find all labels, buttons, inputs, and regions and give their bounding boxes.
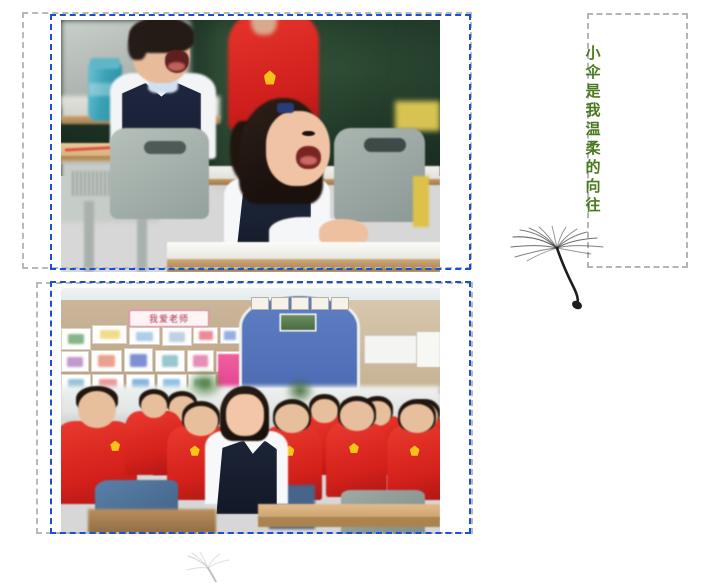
- right-wall-board-2: [417, 332, 440, 366]
- drawing: [220, 327, 241, 344]
- caption-char: 的: [585, 160, 600, 175]
- drawing: [155, 350, 185, 373]
- caption-char: 小: [585, 46, 600, 61]
- page-canvas: 我爱老师: [0, 0, 708, 567]
- vertical-caption: 小 伞 是 我 温 柔 的 向 往: [580, 46, 606, 213]
- arch-center-photo: [281, 315, 315, 330]
- person-head: [141, 394, 168, 419]
- wall-banner: 我爱老师: [129, 310, 209, 327]
- arch-title-card: [331, 297, 349, 311]
- person-head: [400, 404, 434, 434]
- person-head: [311, 399, 338, 424]
- dandelion-seed-icon: [186, 552, 230, 582]
- caption-char: 是: [585, 84, 600, 99]
- caption-char: 向: [585, 179, 600, 194]
- drawing: [129, 327, 160, 346]
- water-bottle-cap: [90, 58, 120, 69]
- dandelion-seed-icon: [505, 226, 609, 314]
- person-head: [275, 404, 309, 434]
- desk-leg-left: [84, 201, 94, 272]
- drawing: [61, 351, 89, 372]
- person-head: [340, 401, 374, 431]
- boy-tongue: [168, 62, 185, 71]
- foreground-girl-vest: [216, 441, 277, 515]
- chair-left-handle: [144, 141, 186, 154]
- drawing: [162, 327, 192, 346]
- drawing: [92, 325, 127, 344]
- chair-right-handle: [364, 138, 406, 152]
- caption-char: 伞: [585, 65, 600, 80]
- person-head: [184, 406, 218, 436]
- dandelion-seed-large: [505, 226, 609, 314]
- arch-title-card: [251, 297, 269, 311]
- foreground-girl-face: [226, 394, 264, 436]
- caption-char: 柔: [585, 141, 600, 156]
- drawing: [91, 350, 122, 373]
- photo-classroom-children-singing[interactable]: [61, 20, 440, 272]
- photo-1-content: [61, 20, 440, 272]
- right-wall-board: [364, 335, 417, 365]
- person-body: [326, 423, 387, 497]
- girl-hair-clip: [277, 103, 294, 113]
- dandelion-seed-small-cropped: [186, 552, 230, 582]
- arch-title-card: [311, 297, 329, 311]
- person-body: [387, 426, 440, 500]
- photo-2-content: 我爱老师: [61, 288, 440, 534]
- boy-hair-side: [128, 30, 147, 60]
- photo-classroom-audience[interactable]: 我爱老师: [61, 288, 440, 534]
- caption-char: 温: [585, 122, 600, 137]
- drawing: [124, 348, 154, 372]
- arch-title-card: [291, 297, 309, 311]
- desk-foreground-edge: [167, 259, 440, 272]
- chair-right-leg: [413, 176, 428, 226]
- chair-far-yellow: [395, 101, 440, 131]
- desk-foreground-right-edge: [258, 517, 440, 527]
- desk-foreground-left: [88, 509, 217, 534]
- person-head: [78, 391, 116, 428]
- drawing: [61, 328, 91, 349]
- drawing: [193, 327, 217, 344]
- caption-char: 我: [585, 103, 600, 118]
- caption-char: 往: [585, 198, 600, 213]
- arch-title-cards: [251, 297, 350, 311]
- arch-title-card: [271, 297, 289, 311]
